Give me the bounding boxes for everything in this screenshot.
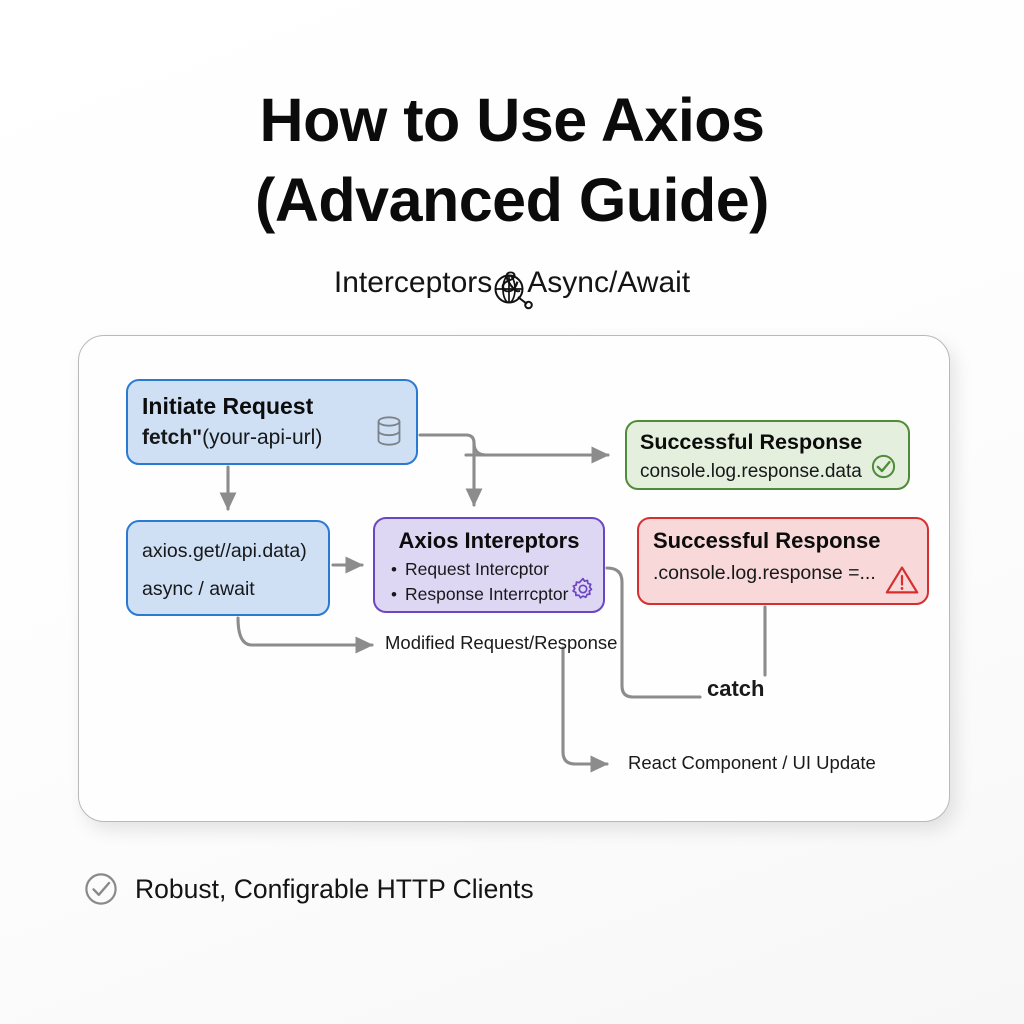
node-initiate-heading: Initiate Request [142, 390, 402, 422]
node-initiate-subtext: fetch"(your-api-url) [142, 422, 402, 454]
node-initiate-sub-bold: fetch" [142, 426, 202, 449]
node-success-subtext: console.log.response.data [640, 457, 895, 486]
label-react-component-ui-update: React Component / UI Update [628, 752, 876, 774]
warning-triangle-icon [885, 565, 919, 595]
gear-icon [571, 577, 595, 601]
node-successful-response[interactable]: Successful Response console.log.response… [625, 420, 910, 490]
slide-canvas: How to Use Axios (Advanced Guide) Interc… [0, 0, 1024, 1024]
page-title-line-2: (Advanced Guide) [0, 160, 1024, 240]
footer-text: Robust, Configrable HTTP Clients [135, 874, 534, 905]
node-success-heading: Successful Response [640, 427, 895, 457]
header: How to Use Axios (Advanced Guide) Interc… [0, 80, 1024, 306]
label-catch: catch [707, 676, 764, 702]
footer: Robust, Configrable HTTP Clients [84, 872, 534, 906]
globe-network-icon [492, 268, 534, 310]
node-interceptors-heading: Axios Intereptors [387, 525, 591, 557]
node-axios-get[interactable]: axios.get//api.data) async / await [126, 520, 330, 616]
node-error-response[interactable]: Successful Response .console.log.respons… [637, 517, 929, 605]
node-error-subtext: .console.log.response =... [653, 557, 913, 589]
check-circle-icon [871, 454, 896, 479]
node-interceptors-list: Request Intercptor Response Interrcptor [387, 557, 591, 607]
database-icon [376, 416, 402, 446]
node-error-heading: Successful Response [653, 525, 913, 557]
node-axios-interceptors[interactable]: Axios Intereptors Request Intercptor Res… [373, 517, 605, 613]
label-modified-request-response: Modified Request/Response [385, 632, 617, 654]
node-initiate-sub-rest: (your-api-url) [202, 426, 322, 449]
node-initiate-request[interactable]: Initiate Request fetch"(your-api-url) [126, 379, 418, 465]
node-axios-get-line-1: axios.get//api.data) [142, 532, 314, 570]
check-circle-icon [84, 872, 118, 906]
list-item: Response Interrcptor [405, 582, 591, 607]
list-item: Request Intercptor [405, 557, 591, 582]
subtitle-row: Interceptors & Async/Await [0, 260, 1024, 306]
node-axios-get-line-2: async / await [142, 570, 314, 608]
page-title-line-1: How to Use Axios [0, 80, 1024, 160]
